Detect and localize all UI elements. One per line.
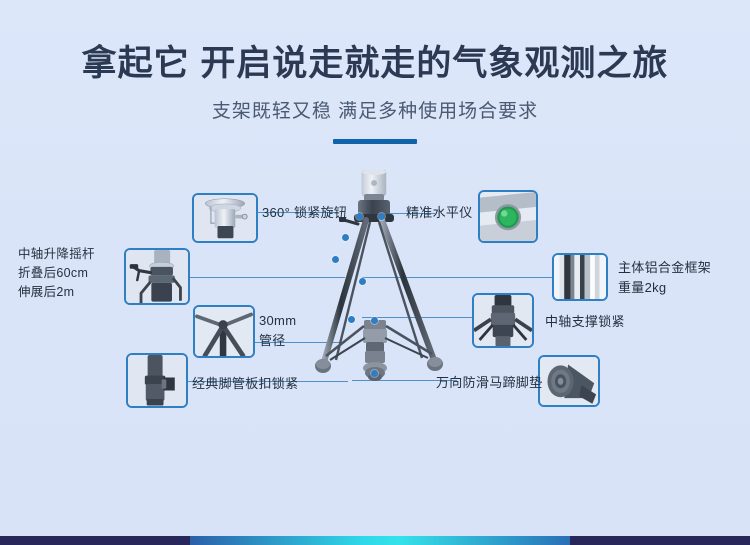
label-line: 30mm	[259, 311, 296, 331]
callout-label-center-brace-lock: 中轴支撑锁紧	[545, 312, 625, 332]
thumbnail-aluminum-frame[interactable]	[552, 253, 608, 301]
aluminum-tube-closeup-icon	[554, 255, 606, 300]
center-column-crank-handle-icon	[126, 250, 188, 304]
thumbnail-anti-slip-foot[interactable]	[538, 355, 600, 407]
label-line: 主体铝合金框架	[618, 258, 711, 278]
label-line: 中轴支撑锁紧	[545, 312, 625, 332]
bubble-level-green-icon	[480, 192, 536, 241]
label-line: 中轴升降摇杆	[18, 245, 95, 264]
page-title: 拿起它 开启说走就走的气象观测之旅	[0, 44, 750, 83]
product-image-tripod	[296, 170, 466, 415]
thumbnail-center-brace-lock[interactable]	[472, 293, 534, 348]
title-underline-rule	[333, 139, 417, 144]
thumbnail-lock-knob-360[interactable]	[192, 193, 258, 243]
anchor-dot-lock-knob-360	[356, 213, 363, 220]
anchor-dot-center-brace	[371, 317, 378, 324]
callout-label-tube-diameter: 30mm 管径	[259, 311, 296, 351]
anchor-dot-tube-diameter	[332, 256, 339, 263]
thumbnail-classic-leg-lock[interactable]	[126, 353, 188, 408]
anchor-dot-precision-level	[378, 213, 385, 220]
anchor-dot-anti-slip-foot	[371, 370, 378, 377]
page-subtitle: 支架既轻又稳 满足多种使用场合要求	[0, 96, 750, 123]
label-line: 管径	[259, 331, 296, 351]
label-line: 经典脚管板扣锁紧	[192, 374, 298, 394]
footer-strip-segment-left	[0, 536, 190, 545]
footer-strip-segment-center	[190, 536, 570, 545]
tripod-head-lock-knob-icon	[194, 195, 256, 242]
anchor-dot-classic-leg-lock	[348, 316, 355, 323]
leg-tube-junction-icon	[195, 307, 253, 357]
promo-page: 拿起它 开启说走就走的气象观测之旅 支架既轻又稳 满足多种使用场合要求	[0, 0, 750, 545]
callout-label-classic-leg-lock: 经典脚管板扣锁紧	[192, 374, 298, 394]
anchor-dot-center-column	[342, 234, 349, 241]
page-header: 拿起它 开启说走就走的气象观测之旅 支架既轻又稳 满足多种使用场合要求	[0, 0, 750, 144]
callout-label-center-column-crank: 中轴升降摇杆 折叠后60cm 伸展后2m	[18, 245, 95, 302]
thumbnail-center-column-crank[interactable]	[124, 248, 190, 305]
tripod-illustration	[296, 170, 466, 415]
label-line: 重量2kg	[618, 278, 711, 298]
label-line: 伸展后2m	[18, 283, 95, 302]
anchor-dot-aluminum-frame	[359, 278, 366, 285]
callout-label-aluminum-frame: 主体铝合金框架 重量2kg	[618, 258, 711, 298]
center-brace-collar-icon	[474, 295, 532, 346]
thumbnail-precision-level[interactable]	[478, 190, 538, 243]
label-line: 折叠后60cm	[18, 264, 95, 283]
leg-flip-lock-icon	[128, 355, 186, 406]
rubber-foot-pad-icon	[540, 357, 598, 406]
product-callout-diagram: 360° 锁紧旋钮 中轴升降摇杆 折叠后60cm 伸展后2m	[0, 165, 750, 435]
footer-color-strip	[0, 536, 750, 545]
thumbnail-tube-diameter[interactable]	[193, 305, 255, 358]
footer-strip-segment-right	[570, 536, 750, 545]
